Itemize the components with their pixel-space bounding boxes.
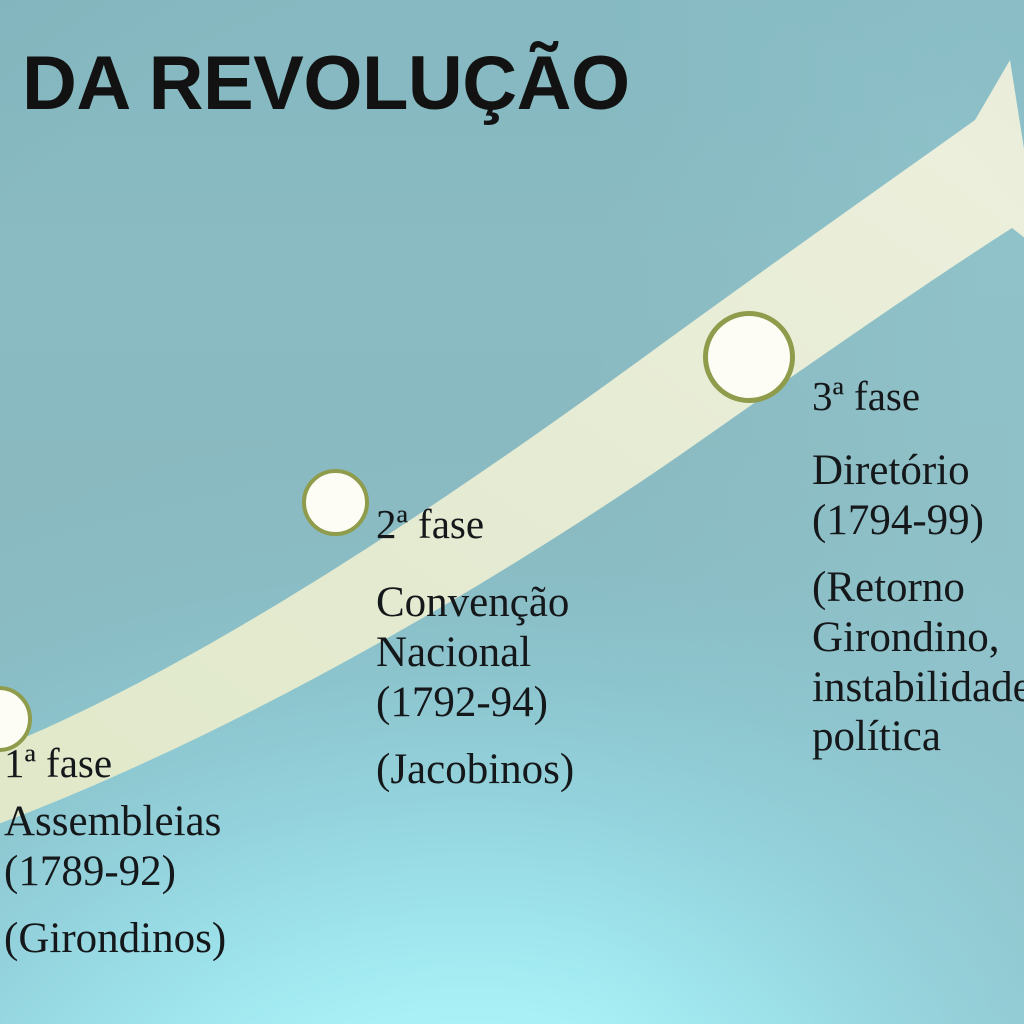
phase-3-spacer xyxy=(812,546,1024,563)
phase-3-line-6: política xyxy=(812,713,941,760)
phase-1-body: Assembleias (1789-92) (Girondinos) xyxy=(4,797,226,964)
phase-1-line-2: (1789-92) xyxy=(4,848,176,895)
presentation-slide: DA REVOLUÇÃO 1ª fase Assembleias (1789-9… xyxy=(0,0,1024,1024)
phase-1-spacer xyxy=(4,897,226,914)
phase-1-line-3: (Girondinos) xyxy=(4,915,226,962)
phase-3-line-5: instabilidade xyxy=(812,664,1024,711)
milestone-marker-2[interactable] xyxy=(302,469,369,536)
phase-2-line-2: Nacional xyxy=(376,629,531,676)
milestone-marker-3[interactable] xyxy=(703,311,795,403)
phase-3-line-2: (1794-99) xyxy=(812,497,984,544)
phase-3-line-4: Girondino, xyxy=(812,614,1000,661)
phase-1-line-1: Assembleias xyxy=(4,798,221,845)
phase-3-line-3: (Retorno xyxy=(812,564,965,611)
phase-3-body: Diretório (1794-99) (Retorno Girondino, … xyxy=(812,446,1024,762)
phase-2-body: Convenção Nacional (1792-94) (Jacobinos) xyxy=(376,578,574,795)
phase-2-line-1: Convenção xyxy=(376,579,569,626)
phase-2-line-3: (1792-94) xyxy=(376,679,548,726)
phase-2-line-4: (Jacobinos) xyxy=(376,746,574,793)
page-title: DA REVOLUÇÃO xyxy=(22,46,630,122)
phase-3-line-1: Diretório xyxy=(812,447,970,494)
phase-2-spacer xyxy=(376,728,574,745)
phase-2-heading: 2ª fase xyxy=(376,502,484,548)
phase-3-heading: 3ª fase xyxy=(812,374,920,420)
phase-1-heading: 1ª fase xyxy=(4,741,112,787)
